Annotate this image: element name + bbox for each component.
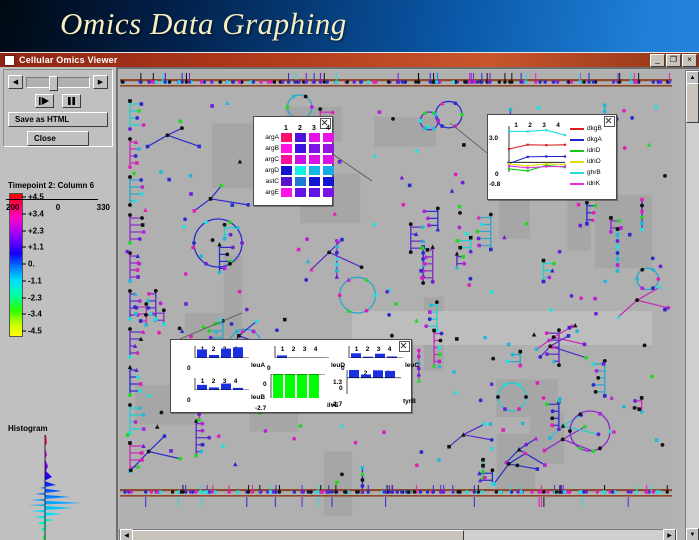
linechart-legend-label: idnK (587, 180, 600, 187)
linechart-point (508, 148, 510, 150)
mini-bar (373, 370, 383, 378)
heatmap-cell[interactable] (309, 155, 320, 164)
color-scale-tick-label: -3.4 (28, 310, 42, 319)
heatmap-cell[interactable] (323, 177, 334, 186)
mini-bar-chart[interactable]: 1234leuD0 (271, 346, 321, 353)
linechart-point (508, 165, 510, 167)
mini-bar-svg (191, 346, 249, 358)
linechart-legend-label: idnO (587, 158, 601, 165)
mini-bar-chart[interactable]: 1234leuB0 (191, 378, 241, 385)
heatmap-col-label: 4 (321, 125, 335, 132)
heatmap-cell[interactable] (309, 177, 320, 186)
heatmap-row[interactable]: astC (259, 176, 337, 187)
linechart-point (564, 165, 566, 167)
linechart-point (527, 144, 529, 146)
linechart-point (564, 155, 566, 157)
pause-icon (67, 97, 76, 105)
linechart-point (545, 165, 547, 167)
mini-bar-title: tyrB (403, 398, 416, 405)
left-panel: ◀ ▶ (0, 67, 115, 540)
color-scale-tick: +4.5 (22, 193, 44, 202)
mini-bar-y-tick: -2.7 (255, 405, 266, 412)
color-legend-title: Timepoint 2: Column 6 (8, 181, 111, 190)
heatmap-cell[interactable] (323, 166, 334, 175)
heatmap-cell[interactable] (281, 166, 292, 175)
horizontal-scrollbar-thumb[interactable] (132, 530, 464, 540)
histogram-plot (4, 433, 109, 540)
histogram-x-left: 200 (6, 203, 19, 212)
step-back-button[interactable]: ◀ (8, 75, 23, 89)
mini-bar (209, 387, 219, 390)
mini-bar-chart[interactable]: 1234tyrB1.30-2.7 (343, 370, 393, 377)
color-scale-tick: -2.3 (22, 293, 42, 302)
timepoint-slider-thumb[interactable] (49, 76, 58, 91)
window-titlebar: Cellular Omics Viewer _ ❐ × (0, 53, 699, 67)
heatmap-row-label: astC (259, 178, 281, 185)
mini-bar-svg (343, 370, 401, 394)
network-canvas-frame: 1234 argAargBargCargDastCargE 1234 3.00-… (116, 67, 699, 540)
heatmap-cell[interactable] (281, 133, 292, 142)
linechart-legend-swatch (570, 128, 584, 130)
play-button[interactable] (35, 94, 54, 108)
mini-bar (309, 374, 319, 398)
histogram-title: Histogram (8, 424, 48, 433)
heatmap-grid: 1234 argAargBargCargDastCargE (259, 125, 337, 198)
mini-bar-title: leuB (251, 394, 265, 401)
histogram-x-center: 0 (56, 203, 60, 212)
mini-bar (385, 371, 395, 378)
playback-controls: ◀ ▶ (3, 69, 113, 147)
mini-bar (297, 374, 307, 398)
window-button-group: _ ❐ × (650, 54, 697, 67)
heatmap-cell[interactable] (281, 155, 292, 164)
vertical-scrollbar-thumb[interactable] (686, 83, 699, 123)
heatmap-cell[interactable] (295, 133, 306, 142)
histogram-svg (4, 433, 109, 540)
heatmap-row-label: argB (259, 145, 281, 152)
mini-bar-y-tick: 0 (187, 397, 191, 404)
linechart-series (509, 166, 565, 168)
linechart-point (545, 155, 547, 157)
mini-bar-svg (191, 378, 249, 390)
linechart-point (545, 129, 547, 131)
linechart-point (564, 134, 566, 136)
color-scale-tick: +2.3 (22, 226, 44, 235)
mini-bar (209, 355, 219, 358)
scroll-down-button[interactable]: ▼ (686, 528, 699, 540)
linechart-legend-swatch (570, 150, 584, 152)
maximize-button[interactable]: ❐ (666, 54, 681, 67)
heatmap-cell[interactable] (281, 144, 292, 153)
linechart-popup[interactable]: 1234 3.00-0.8 dkgBdkgAidnDidnOghrBidnK (487, 114, 617, 200)
linechart-legend-item[interactable]: dkgA (570, 134, 614, 145)
timepoint-slider-row: ◀ ▶ (4, 70, 112, 89)
linechart-legend-item[interactable]: idnK (570, 178, 614, 189)
linechart-y-tick: -0.8 (489, 181, 500, 188)
color-scale-tick: 0. (22, 260, 35, 269)
linechart-legend-label: dkgB (587, 125, 602, 132)
mini-bar-svg (271, 346, 329, 358)
linechart-point (545, 163, 547, 165)
vertical-scrollbar[interactable]: ▲ ▼ (685, 70, 699, 540)
mini-bar (197, 385, 207, 390)
window-title: Cellular Omics Viewer (19, 55, 118, 65)
histogram-axis (6, 199, 98, 200)
slide-title: Omics Data Graphing (60, 6, 347, 42)
linechart-legend-label: idnD (587, 147, 600, 154)
close-viewer-button[interactable]: Close (27, 131, 89, 146)
heatmap-col-label: 2 (293, 125, 307, 132)
heatmap-cell[interactable] (309, 133, 320, 142)
heatmap-row-label: argE (259, 189, 281, 196)
heatmap-row[interactable]: argA (259, 132, 337, 143)
heatmap-cell[interactable] (323, 144, 334, 153)
heatmap-row-label: argD (259, 167, 281, 174)
mini-bar (197, 349, 207, 358)
color-scale-tick: -4.5 (22, 327, 42, 336)
mini-bar-svg (267, 374, 325, 398)
mini-bar-title: leuC (405, 362, 419, 369)
color-scale: +4.5+3.4+2.3+1.10.-1.1-2.3-3.4-4.5 (9, 193, 111, 335)
mini-bar (361, 375, 371, 378)
color-scale-tick-label: +1.1 (28, 243, 44, 252)
mini-bar (221, 349, 231, 358)
linechart-svg (491, 122, 569, 180)
application-window: Cellular Omics Viewer _ ❐ × ◀ ▶ (0, 52, 699, 540)
linechart-legend-item[interactable]: idnO (570, 156, 614, 167)
heatmap-cell[interactable] (323, 155, 334, 164)
heatmap-row-label: argA (259, 134, 281, 141)
minimize-button[interactable]: _ (650, 54, 665, 67)
color-scale-bar (9, 193, 23, 337)
heatmap-row[interactable]: argE (259, 187, 337, 198)
histogram-shape (28, 435, 82, 540)
linechart-legend: dkgBdkgAidnDidnOghrBidnK (570, 123, 614, 189)
linechart-legend-swatch (570, 172, 584, 174)
heatmap-col-label: 3 (307, 125, 321, 132)
mini-bar (349, 370, 359, 378)
heatmap-cell[interactable] (323, 133, 334, 142)
heatmap-cell[interactable] (323, 188, 334, 197)
linechart-point (527, 170, 529, 172)
heatmap-cell[interactable] (295, 144, 306, 153)
color-scale-tick-label: -4.5 (28, 327, 42, 336)
mini-bar-y-tick: -2.7 (331, 401, 342, 408)
screenshot-root: Omics Data Graphing Cellular Omics Viewe… (0, 0, 699, 540)
color-scale-tick-label: +2.3 (28, 226, 44, 235)
linechart-point (527, 167, 529, 169)
save-as-html-button[interactable]: Save as HTML (8, 112, 108, 127)
close-button[interactable]: × (682, 54, 697, 67)
mini-bar (285, 374, 295, 398)
mini-bar (233, 347, 243, 358)
step-forward-button[interactable]: ▶ (93, 75, 108, 89)
color-scale-tick-label: -2.3 (28, 293, 42, 302)
heatmap-cell[interactable] (281, 177, 292, 186)
color-scale-tick-label: +4.5 (28, 193, 44, 202)
linechart-plot: 1234 (491, 122, 569, 194)
heatmap-row[interactable]: argD (259, 165, 337, 176)
mini-bar-y-tick: 0 (339, 385, 343, 392)
horizontal-scrollbar[interactable]: ◀ ▶ (119, 529, 677, 540)
linechart-series (509, 130, 565, 135)
linechart-legend-label: ghrB (587, 169, 601, 176)
heatmap-cell[interactable] (309, 188, 320, 197)
linechart-y-tick: 0 (495, 171, 499, 178)
mini-bar-y-tick: 0 (267, 365, 271, 372)
linechart-legend-swatch (570, 161, 584, 163)
linechart-point (508, 130, 510, 132)
mini-bar-chart[interactable]: 1234leuA0 (191, 346, 241, 353)
linechart-point (508, 168, 510, 170)
heatmap-cell[interactable] (295, 177, 306, 186)
linechart-point (527, 130, 529, 132)
window-icon (4, 55, 15, 66)
histogram-axis-labels: 200 0 330 (4, 203, 112, 212)
color-scale-tick: +1.1 (22, 243, 44, 252)
linechart-point (564, 144, 566, 146)
linechart-legend-item[interactable]: dkgB (570, 123, 614, 134)
heatmap-cell[interactable] (295, 166, 306, 175)
mini-bar-title: leuA (251, 362, 265, 369)
heatmap-popup[interactable]: 1234 argAargBargCargDastCargE (253, 116, 333, 206)
mini-bar (221, 384, 231, 390)
play-icon (39, 97, 50, 105)
linechart-legend-item[interactable]: idnD (570, 145, 614, 156)
heatmap-col-label: 1 (279, 125, 293, 132)
heatmap-cell[interactable] (309, 166, 320, 175)
network-canvas[interactable]: 1234 argAargBargCargDastCargE 1234 3.00-… (120, 71, 672, 527)
color-scale-tick-label: 0. (28, 260, 35, 269)
timepoint-slider[interactable] (26, 77, 90, 88)
mini-bar-y-tick: 0 (263, 381, 267, 388)
mini-bar (351, 353, 361, 358)
color-scale-tick-label: -1.1 (28, 276, 42, 285)
linechart-series (509, 164, 565, 166)
linechart-legend-swatch (570, 139, 584, 141)
pause-button[interactable] (62, 94, 81, 108)
heatmap-row[interactable]: argB (259, 143, 337, 154)
mini-bar (273, 374, 283, 398)
transport-buttons (4, 94, 112, 108)
linechart-series (509, 145, 565, 149)
linechart-point (527, 156, 529, 158)
heatmap-cell[interactable] (295, 188, 306, 197)
mini-bar (375, 354, 385, 358)
heatmap-column-headers: 1234 (279, 125, 337, 132)
linechart-legend-label: dkgA (587, 136, 602, 143)
barchart-popup[interactable]: 1234leuA01234leuD01234leuC01234leuB01234… (170, 339, 412, 413)
heatmap-rows: argAargBargCargDastCargE (259, 132, 337, 198)
histogram-x-right: 330 (97, 203, 110, 212)
heatmap-row[interactable]: argC (259, 154, 337, 165)
scroll-right-button[interactable]: ▶ (663, 529, 676, 540)
linechart-legend-swatch (570, 183, 584, 185)
color-scale-tick: -1.1 (22, 276, 42, 285)
heatmap-cell[interactable] (281, 188, 292, 197)
heatmap-cell[interactable] (309, 144, 320, 153)
linechart-y-tick: 3.0 (489, 135, 498, 142)
linechart-legend-item[interactable]: ghrB (570, 167, 614, 178)
linechart-point (545, 144, 547, 146)
mini-bar-y-tick: 0 (187, 365, 191, 372)
mini-bar-svg (345, 346, 403, 358)
mini-bar-chart[interactable]: 1234leuC0 (345, 346, 395, 353)
heatmap-row-label: argC (259, 156, 281, 163)
linechart-point (508, 163, 510, 165)
mini-bar (277, 355, 287, 358)
heatmap-cell[interactable] (295, 155, 306, 164)
color-scale-tick: -3.4 (22, 310, 42, 319)
mini-bar-chart[interactable]: 1234ilvE0-2.7 (267, 374, 317, 381)
